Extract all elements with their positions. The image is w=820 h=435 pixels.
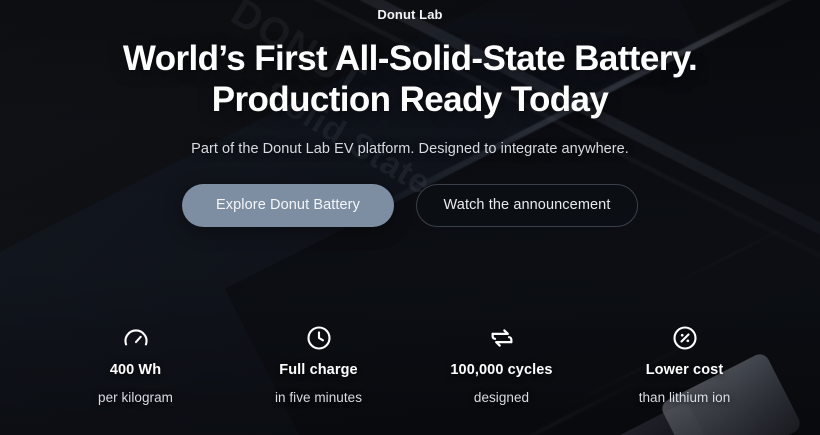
stat-value: 400 Wh: [110, 362, 161, 378]
watch-announcement-button[interactable]: Watch the announcement: [416, 184, 638, 227]
clock-icon: [305, 324, 333, 352]
headline-line-1: World’s First All-Solid-State Battery.: [123, 39, 697, 78]
percent-circle-icon: [671, 324, 699, 352]
stat-value: Full charge: [279, 362, 357, 378]
cta-row: Explore Donut Battery Watch the announce…: [182, 184, 638, 227]
stat-item-cycle-life: 100,000 cycles designed: [410, 324, 593, 405]
stat-label: in five minutes: [275, 390, 362, 405]
stat-item-charge-time: Full charge in five minutes: [227, 324, 410, 405]
headline-line-2: Production Ready Today: [123, 79, 697, 120]
stat-label: than lithium ion: [639, 390, 731, 405]
gauge-icon: [122, 324, 150, 352]
explore-donut-battery-button[interactable]: Explore Donut Battery: [182, 184, 394, 227]
stat-label: designed: [474, 390, 529, 405]
stat-value: Lower cost: [646, 362, 724, 378]
hero-page: DONUT Solid State Donut Lab World’s Firs…: [0, 0, 820, 435]
page-title: World’s First All-Solid-State Battery. P…: [123, 38, 697, 121]
repeat-cycle-icon: [488, 324, 516, 352]
hero-content: Donut Lab World’s First All-Solid-State …: [0, 0, 820, 435]
stats-row: 400 Wh per kilogram Full charge in five …: [0, 324, 820, 405]
stat-item-cost: Lower cost than lithium ion: [593, 324, 776, 405]
stat-label: per kilogram: [98, 390, 173, 405]
hero-subtitle: Part of the Donut Lab EV platform. Desig…: [191, 141, 629, 157]
stat-value: 100,000 cycles: [450, 362, 552, 378]
brand-name: Donut Lab: [377, 7, 442, 22]
stat-item-energy-density: 400 Wh per kilogram: [44, 324, 227, 405]
